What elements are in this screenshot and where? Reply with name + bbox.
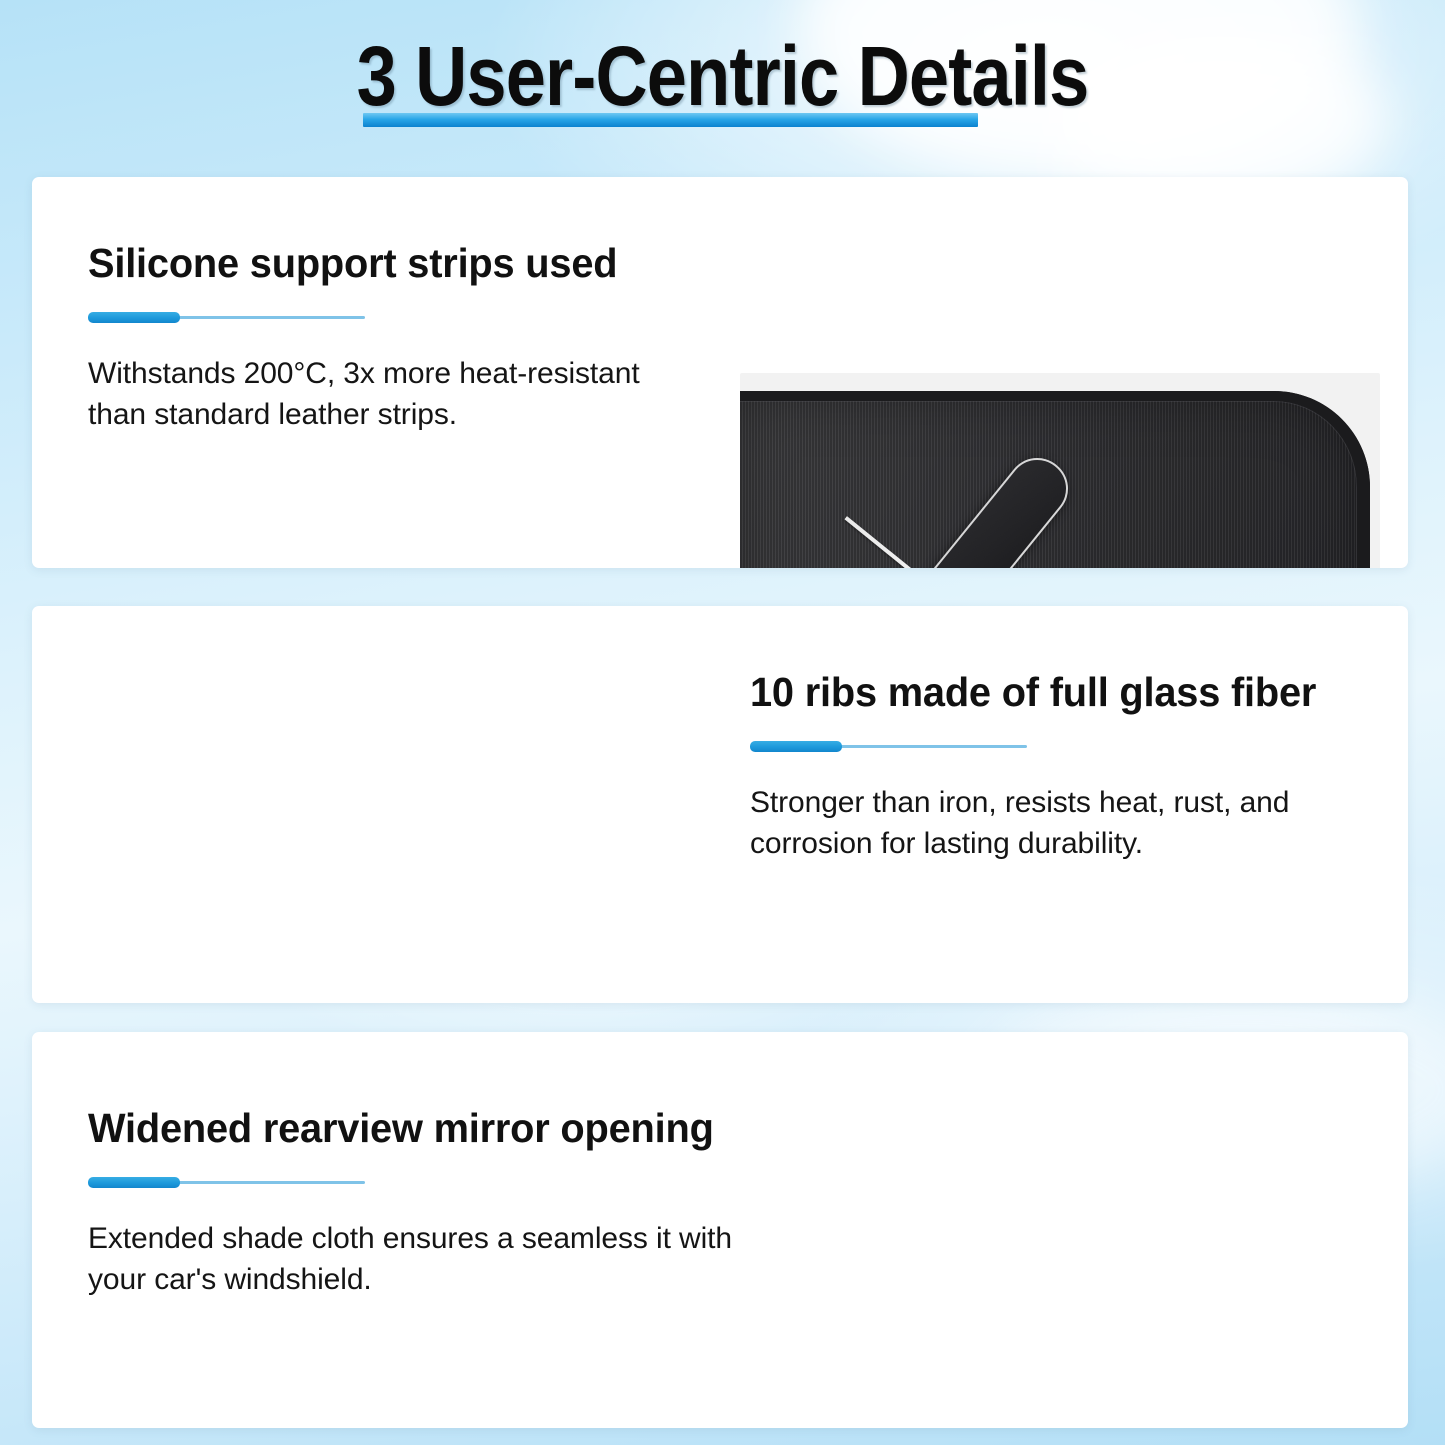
feature-title-1: Silicone support strips used (88, 239, 670, 287)
feature-description-1: Withstands 200°C, 3x more heat-resistant… (88, 353, 688, 435)
feature-divider-2 (750, 741, 1370, 751)
divider-accent (750, 741, 842, 752)
feature-text-block-3: Widened rearview mirror opening Extended… (88, 1104, 748, 1300)
feature-text-block-1: Silicone support strips used Withstands … (88, 239, 688, 435)
feature-title-2: 10 ribs made of full glass fiber (750, 668, 1351, 716)
page-title: 3 User-Centric Details (357, 28, 1089, 124)
divider-accent (88, 1177, 180, 1188)
feature-card-2: 10 ribs made of full glass fiber Stronge… (32, 606, 1408, 1003)
divider-accent (88, 312, 180, 323)
feature-card-1: Silicone support strips used Withstands … (32, 177, 1408, 568)
feature-text-block-2: 10 ribs made of full glass fiber Stronge… (750, 668, 1370, 864)
feature-divider-3 (88, 1177, 748, 1187)
feature-divider-1 (88, 312, 688, 322)
infographic-page: 3 User-Centric Details Silicone support … (0, 0, 1445, 1445)
feature-description-2: Stronger than iron, resists heat, rust, … (750, 782, 1370, 864)
feature-title-3: Widened rearview mirror opening (88, 1104, 728, 1152)
page-heading-area: 3 User-Centric Details (0, 28, 1445, 146)
feature-image-1 (740, 373, 1380, 568)
feature-card-3: Widened rearview mirror opening Extended… (32, 1032, 1408, 1428)
feature-description-3: Extended shade cloth ensures a seamless … (88, 1218, 748, 1300)
